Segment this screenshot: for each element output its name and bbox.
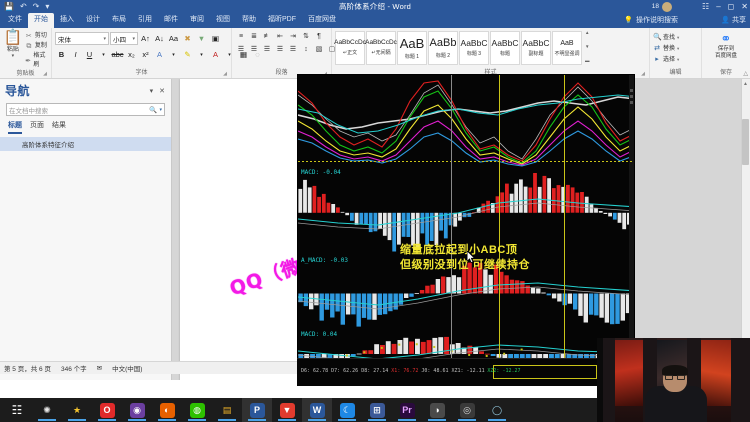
paragraph-commands[interactable]: ≡≣≢⇤⇥⇅¶☰☰☰☰☰↕▧▢ [235,30,338,55]
navigation-search-box[interactable]: 在文档中搜索 🔍 ▾ [6,103,165,116]
style-item-6[interactable]: AaBbC副标题 [521,31,551,65]
ribbon-tab-3[interactable]: 设计 [80,13,106,28]
group-font: 宋体 ▾ 小四 ▾ A↑ A↓ Aa ✖ ▼ ▣ [52,28,232,78]
annotation-line-1: 缩量底拉起到小ABC顶 [400,243,517,258]
taskbar-running-indicator [128,419,146,421]
ribbon-tab-0[interactable]: 文件 [2,13,28,28]
ribbon-tab-label: 文件 [8,16,22,23]
chevron-down-icon[interactable]: ▾ [677,44,679,54]
collapse-ribbon-icon[interactable]: △ [743,70,748,77]
italic-button[interactable]: I [69,48,82,61]
ribbon-tab-label: 插入 [60,16,74,23]
taskbar-item-moon-app[interactable]: ☾ [332,398,362,422]
taskbar-running-indicator [158,419,176,421]
moon-app-icon: ☾ [340,403,355,418]
multilevel-list-icon[interactable]: ≢ [261,30,273,42]
ribbon-tab-label: 邮件 [164,16,178,23]
taskbar-item-wechat[interactable]: ◍ [182,398,212,422]
taskbar-running-indicator [368,419,386,421]
style-preview: AaBbCcDc [334,40,366,47]
ribbon-tab-7[interactable]: 审阅 [184,13,210,28]
account-name: 18 [652,3,659,10]
word-count[interactable]: 346 个字 [61,363,87,373]
readout-item-1: D7: 62.26 [331,368,358,374]
chevron-down-icon[interactable]: ▾ [159,107,162,113]
clipboard-item-label: 格式刷 [33,52,48,70]
mouse-cursor-icon [467,251,476,264]
superscript-icon[interactable]: x² [139,48,152,61]
marker-line-left [499,75,500,359]
group-paragraph: ≡≣≢⇤⇥⇅¶☰☰☰☰☰↕▧▢ 段落 ◢ [232,28,332,78]
style-item-7[interactable]: AaB不明显强调 [552,31,582,65]
chevron-down-icon[interactable]: ▾ [128,36,135,42]
editing-select[interactable]: ▸选择▾ [653,55,679,65]
subscript-icon[interactable]: x₂ [125,48,138,61]
group-clipboard: 📋 粘贴 ▾ ✂剪切⧉复制✒格式刷 剪贴板 ◢ [0,28,52,78]
window-controls[interactable]: ☷ – ◻ ✕ [702,0,748,13]
tell-me-placeholder: 操作说明搜索 [636,15,678,25]
align-right-icon[interactable]: ☰ [261,43,273,55]
close-icon[interactable]: ✕ [741,0,748,13]
search-input[interactable]: 在文档中搜索 [9,105,48,115]
save-group-text: 保存 [720,70,732,76]
save-button-line2: 百度网盘 [715,53,737,60]
readout-item-6: XZ2: -12.27 [487,368,520,374]
windows-start-button[interactable]: ☷ [2,398,32,422]
strikethrough-icon[interactable]: abc [111,48,124,61]
taskbar-item-disc-app[interactable]: ◑ [422,398,452,422]
taskbar-running-indicator [398,419,416,421]
opera-icon: O [100,403,115,418]
recorder-icon: ◯ [490,403,505,418]
paragraph-row-1: ☰☰☰☰☰↕▧▢ [235,43,338,55]
macd-histogram-1 [298,167,635,255]
marker-line-right [564,75,565,359]
style-name: 副标题 [528,50,543,57]
readout-item-4: J0: 48.61 [421,368,448,374]
navigation-title: 导航 [5,82,30,99]
share-icon: 👤 [721,16,730,24]
ribbon-tab-6[interactable]: 邮件 [158,13,184,28]
chevron-down-icon[interactable]: ▾ [167,48,180,61]
scroll-down-icon[interactable]: ▼ [585,44,590,50]
lightbulb-icon: 💡 [624,16,633,24]
share-button[interactable]: 👤 共享 [721,15,746,25]
taskbar-running-indicator [428,419,446,421]
navigation-heading-list[interactable]: 高阶体系特征介绍 [0,137,171,151]
disc-app-icon: ◑ [430,403,445,418]
change-case-icon[interactable]: Aa [167,32,180,45]
minimize-icon[interactable]: – [716,0,720,13]
ribbon-tab-11[interactable]: 百度网盘 [302,13,342,28]
scissors-icon: ✂ [25,32,33,41]
save-button-line1: 保存到 [718,46,735,53]
taskbar-running-indicator [38,419,56,421]
scroll-up-icon[interactable]: ▲ [742,81,749,87]
taskbar-running-indicator [338,419,356,421]
chart-readout-row: D6: 62.78D7: 62.26D8: 27.14X1: 76.72J0: … [297,358,635,386]
nav-tab-0[interactable]: 标题 [8,120,22,134]
taskbar-running-indicator [98,419,116,421]
ribbon-tab-label: 设计 [86,16,100,23]
style-preview: AaBbC [523,39,550,48]
ribbon-tab-4[interactable]: 布局 [106,13,132,28]
macd-label-2: A_MACD: -0.03 [301,257,348,264]
navigation-pane-controls[interactable]: ▾ ✕ [150,87,167,95]
group-label-save: 保存 [705,69,747,78]
format-painter-icon: ✒ [25,57,32,66]
ribbon-tab-label: 百度网盘 [308,16,336,23]
font-size-value: 小四 [113,34,126,44]
style-preview: AaBbC [492,39,519,48]
bullets-icon[interactable]: ≡ [235,30,247,42]
group-editing: 🔍查找▾⇄替换▾▸选择▾ 编辑 [650,28,702,78]
wechat-icon: ◍ [190,403,205,418]
font-size-combo[interactable]: 小四 ▾ [110,32,138,45]
character-border-icon[interactable]: ▣ [209,32,222,45]
editing-replace[interactable]: ⇄替换▾ [653,44,679,54]
font-group-text: 字体 [135,70,147,76]
baidu-netdisk-icon: ⚭ [721,32,732,46]
increase-indent-icon[interactable]: ⇥ [287,30,299,42]
chevron-down-icon[interactable]: ▾ [195,48,208,61]
line-spacing-icon[interactable]: ↕ [300,43,312,55]
taskbar-running-indicator [308,419,326,421]
search-controls[interactable]: 🔍 ▾ [149,106,162,114]
group-label-clipboard: 剪贴板 ◢ [3,70,48,78]
navigation-pane: 导航 ▾ ✕ 在文档中搜索 🔍 ▾ 标题页面结果 高阶体系特征介绍 [0,79,172,380]
style-name: 标题 2 [436,52,450,59]
avatar[interactable] [662,2,672,12]
clipboard-scissors[interactable]: ✂剪切 [25,32,48,41]
taskbar-running-indicator [188,419,206,421]
readout-item-3: X1: 76.72 [391,368,418,374]
ribbon-tab-10[interactable]: 福昕PDF [262,13,302,28]
align-left-icon[interactable]: ☰ [235,43,247,55]
poster-left [615,340,643,406]
font-color-icon[interactable]: A [209,48,222,61]
language-indicator[interactable]: 中文(中国) [112,363,142,373]
paste-button[interactable]: 📋 粘贴 ▾ [3,30,23,59]
style-preview: AaB [400,37,425,50]
level-line [298,161,634,162]
style-item-0[interactable]: AaBbCcDc↵正文 [335,31,365,65]
editing-item-label: 查找 [663,33,675,43]
shrink-font-icon[interactable]: A↓ [153,32,166,45]
search-icon[interactable]: 🔍 [149,106,157,114]
sort-icon[interactable]: ⇅ [300,30,312,42]
ribbon-tab-2[interactable]: 插入 [54,13,80,28]
ribbon-tab-label: 布局 [112,16,126,23]
powerpoint-icon: P [250,403,265,418]
navigation-header: 导航 ▾ ✕ [0,79,171,101]
font-family-value: 宋体 [58,34,71,44]
editing-item-label: 替换 [663,44,675,54]
indicator-lines [298,75,635,167]
annotation-line-2: 但级别没到位 可继续持仓 [400,258,530,273]
clipboard-item-label: 剪切 [35,32,47,41]
distribute-icon[interactable]: ☰ [287,43,299,55]
grow-font-icon[interactable]: A↑ [139,32,152,45]
paragraph-group-text: 段落 [275,70,287,76]
taskbar-item-teams[interactable]: ⊞ [362,398,392,422]
crosshair-line [451,75,452,359]
file-explorer-icon: ▤ [220,403,235,418]
ribbon-tab-label: 开始 [34,16,48,23]
editing-group-text: 编辑 [669,70,681,76]
bold-button[interactable]: B [55,48,68,61]
clipboard-format-painter[interactable]: ✒格式刷 [25,52,48,70]
macd-label-1: MACD: -0.04 [301,169,341,176]
paste-icon: 📋 [4,30,23,45]
ribbon-tab-1[interactable]: 开始 [28,13,54,28]
dialog-launcher-icon[interactable]: ◢ [641,70,645,78]
align-center-icon[interactable]: ☰ [248,43,260,55]
macd-label-3: MACD: 0.04 [301,331,337,338]
style-name: 不明显强调 [554,50,579,57]
style-preview: AaBbCcDc [365,40,397,47]
editing-search[interactable]: 🔍查找▾ [653,33,679,43]
taskbar-item-file-explorer[interactable]: ▤ [212,398,242,422]
group-styles: AaBbCcDc↵正文AaBbCcDc↵无间隔AaB标题 1AaBb标题 2Aa… [332,28,650,78]
navigation-tabs[interactable]: 标题页面结果 [0,116,171,134]
readout-item-5: XZ1: -12.11 [452,368,485,374]
group-label-editing: 编辑 [653,69,698,78]
taskbar-item-word[interactable]: W [302,398,332,422]
underline-button[interactable]: U [83,48,96,61]
style-name: 标题 [500,50,510,57]
chevron-down-icon[interactable]: ▾ [677,55,679,65]
ribbon-tab-label: 福昕PDF [268,16,296,23]
paragraph-row-0: ≡≣≢⇤⇥⇅¶ [235,30,338,42]
taskbar-running-indicator [218,419,236,421]
ribbon-tab-bar: 文件开始插入设计布局引用邮件审阅视图帮助福昕PDF百度网盘 💡 操作说明搜索 👤… [0,13,750,28]
premiere-icon: Pr [400,403,415,418]
clear-formatting-icon[interactable]: ✖ [181,32,194,45]
font-row-1: 宋体 ▾ 小四 ▾ A↑ A↓ Aa ✖ ▼ ▣ [55,31,222,46]
ribbon-tab-label: 视图 [216,16,230,23]
styles-gallery[interactable]: AaBbCcDc↵正文AaBbCcDc↵无间隔AaB标题 1AaBb标题 2Aa… [335,30,582,65]
ribbon-tab-label: 审阅 [190,16,204,23]
clipboard-item-label: 复制 [35,42,47,51]
replace-icon: ⇄ [653,44,661,54]
style-item-5[interactable]: AaBbC标题 [490,31,520,65]
chevron-down-icon[interactable]: ▾ [12,54,15,59]
editing-item-label: 选择 [663,55,675,65]
taskbar-running-indicator [278,419,296,421]
style-name: 标题 3 [467,50,481,57]
text-highlight-icon[interactable]: ✎ [181,48,194,61]
taskbar-item-opera[interactable]: O [92,398,122,422]
glasses-icon [665,375,685,380]
pane-options-icon[interactable]: ▾ [150,87,154,95]
share-label: 共享 [732,15,746,25]
browser-purple-icon: ◉ [130,403,145,418]
taskbar-item-browser-purple[interactable]: ◉ [122,398,152,422]
taskbar-item-firefox[interactable]: ◐ [152,398,182,422]
taskbar-item-pdf-reader[interactable]: ▼ [272,398,302,422]
chevron-down-icon[interactable]: ▾ [97,48,110,61]
ribbon-tab-label: 引用 [138,16,152,23]
proofing-icon[interactable]: ✉ [97,364,102,372]
word-icon: W [310,403,325,418]
page-indicator[interactable]: 第 5 页，共 6 页 [4,363,51,373]
search-cortana-icon: ✺ [40,403,55,418]
dialog-launcher-icon[interactable]: ◢ [43,70,47,78]
style-preview: AaBb [430,38,457,49]
nav-tab-1[interactable]: 页面 [30,120,44,134]
editing-commands[interactable]: 🔍查找▾⇄替换▾▸选择▾ [653,30,679,65]
style-name: 标题 1 [405,53,419,60]
dialog-launcher-icon[interactable]: ◢ [223,70,227,78]
taskbar-running-indicator [488,419,506,421]
copy-icon: ⧉ [25,42,33,51]
pdf-reader-icon: ▼ [280,403,295,418]
taskbar-item-camera[interactable]: ◎ [452,398,482,422]
screen: 💾 ↶ ↷ ▾ 高阶体系介绍 - Word 18 ☷ – ◻ ✕ 文件开始插入设… [0,0,750,422]
teams-icon: ⊞ [370,403,385,418]
ribbon: 📋 粘贴 ▾ ✂剪切⧉复制✒格式刷 剪贴板 ◢ 宋体 [0,28,750,79]
ribbon-tab-8[interactable]: 视图 [210,13,236,28]
font-family-combo[interactable]: 宋体 ▾ [55,32,109,45]
star-app-icon: ★ [70,403,85,418]
nav-heading-item[interactable]: 高阶体系特征介绍 [0,137,171,151]
style-item-4[interactable]: AaBbC标题 3 [459,31,489,65]
presenter-webcam[interactable] [597,338,750,422]
decrease-indent-icon[interactable]: ⇤ [274,30,286,42]
clipboard-group-text: 剪贴板 [16,71,34,77]
taskbar-item-recorder[interactable]: ◯ [482,398,512,422]
account-area[interactable]: 18 [652,0,672,13]
show-marks-icon[interactable]: ¶ [313,30,325,42]
firefox-icon: ◐ [160,403,175,418]
phonetic-guide-icon[interactable]: ▼ [195,32,208,45]
styles-scroll[interactable]: ▲ ▼ ▬ [585,30,590,64]
style-name: ↵无间隔 [371,49,390,56]
taskbar-item-premiere[interactable]: Pr [392,398,422,422]
style-preview: AaBbC [461,39,488,48]
taskbar-item-search-cortana[interactable]: ✺ [32,398,62,422]
numbering-icon[interactable]: ≣ [248,30,260,42]
ribbon-tab-9[interactable]: 帮助 [236,13,262,28]
style-preview: AaB [560,40,573,47]
style-item-2[interactable]: AaB标题 1 [397,31,427,65]
scroll-up-icon[interactable]: ▲ [585,30,590,36]
scrollbar-thumb[interactable] [742,119,749,165]
readout-item-0: D6: 62.78 [301,368,328,374]
style-item-3[interactable]: AaBb标题 2 [428,31,458,65]
taskbar-items[interactable]: ✺★O◉◐◍▤P▼W☾⊞Pr◑◎◯ [32,398,512,422]
justify-icon[interactable]: ☰ [274,43,286,55]
style-item-1[interactable]: AaBbCcDc↵无间隔 [366,31,396,65]
vertical-scrollbar[interactable]: ▲ ▼ [741,79,750,380]
camera-icon: ◎ [460,403,475,418]
windows-start-icon: ☷ [10,403,25,418]
search-icon: 🔍 [653,33,661,43]
chevron-down-icon[interactable]: ▾ [677,33,679,43]
ribbon-tab-5[interactable]: 引用 [132,13,158,28]
title-bar: 💾 ↶ ↷ ▾ 高阶体系介绍 - Word 18 ☷ – ◻ ✕ [0,0,750,13]
select-icon: ▸ [653,55,661,65]
nav-tab-2[interactable]: 结果 [52,120,66,134]
taskbar-running-indicator [458,419,476,421]
taskbar-running-indicator [68,419,86,421]
save-to-baidu-button[interactable]: ⚭ 保存到 百度网盘 [705,32,747,60]
group-label-font: 字体 ◢ [55,69,228,78]
taskbar-item-star-app[interactable]: ★ [62,398,92,422]
tell-me-box[interactable]: 💡 操作说明搜索 [624,15,678,25]
ribbon-display-options-icon[interactable]: ☷ [702,0,709,13]
text-effects-icon[interactable]: A [153,48,166,61]
more-styles-icon[interactable]: ▬ [585,58,590,64]
pane-close-icon[interactable]: ✕ [159,87,165,95]
clipboard-commands[interactable]: ✂剪切⧉复制✒格式刷 [25,30,48,70]
ribbon-tab-label: 帮助 [242,16,256,23]
taskbar-running-indicator [248,419,266,421]
style-name: ↵正文 [343,49,357,56]
chevron-down-icon[interactable]: ▾ [99,36,106,42]
restore-icon[interactable]: ◻ [728,0,735,13]
clipboard-copy[interactable]: ⧉复制 [25,42,48,51]
window-title: 高阶体系介绍 - Word [0,1,750,12]
shading-icon[interactable]: ▧ [313,43,325,55]
readout-item-2: D8: 27.14 [361,368,388,374]
taskbar-item-powerpoint[interactable]: P [242,398,272,422]
trading-chart[interactable]: MACD: -0.04 A_MACD: -0.03 MACD: 0.04 缩量底… [297,74,635,386]
